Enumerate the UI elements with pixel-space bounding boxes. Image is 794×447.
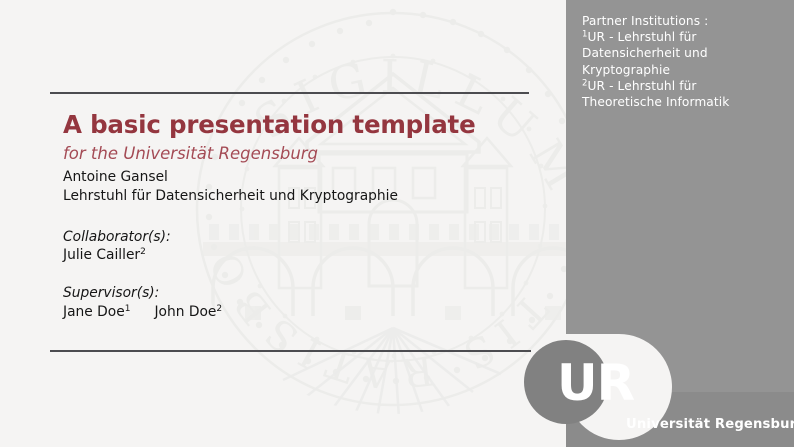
collaborator-name: Julie Cailler: [63, 247, 140, 263]
presentation-slide: SIGILLUM TIS RATISBONENSIS: [0, 0, 794, 447]
title-rule-bottom: [50, 350, 531, 352]
collaborators-label: Collaborator(s):: [63, 228, 171, 247]
supervisor-first-name: Jane Doe: [63, 304, 125, 320]
university-name: Universität Regensburg: [626, 417, 794, 432]
supervisor-second-name: John Doe: [154, 304, 216, 320]
page-title: A basic presentation template: [63, 111, 475, 139]
collaborators-names: Julie Cailler2: [63, 246, 146, 265]
title-rule-top: [50, 92, 529, 94]
author-affiliation: Lehrstuhl für Datensicherheit und Krypto…: [63, 187, 398, 207]
partner-institutions-heading: Partner Institutions :: [582, 13, 782, 29]
partner-institutions-block: Partner Institutions : 1UR - Lehrstuhl f…: [582, 13, 782, 110]
collaborator-marker: 2: [140, 247, 146, 257]
supervisors-label: Supervisor(s):: [63, 284, 159, 303]
partner-institution-1-line1: 1UR - Lehrstuhl für: [582, 29, 782, 45]
partner-institution-2-line1: 2UR - Lehrstuhl für: [582, 78, 782, 94]
partner-institution-1-line2: Datensicherheit und: [582, 45, 782, 61]
ur-logo-mark: UR: [557, 358, 634, 408]
supervisor-second-marker: 2: [216, 304, 222, 314]
partner-institution-1-line3: Kryptographie: [582, 62, 782, 78]
page-subtitle: for the Universität Regensburg: [63, 144, 318, 164]
author-name: Antoine Gansel: [63, 168, 168, 188]
supervisor-first-marker: 1: [125, 304, 131, 314]
supervisors-names: Jane Doe1John Doe2: [63, 303, 222, 322]
partner-institution-2-line2: Theoretische Informatik: [582, 94, 782, 110]
